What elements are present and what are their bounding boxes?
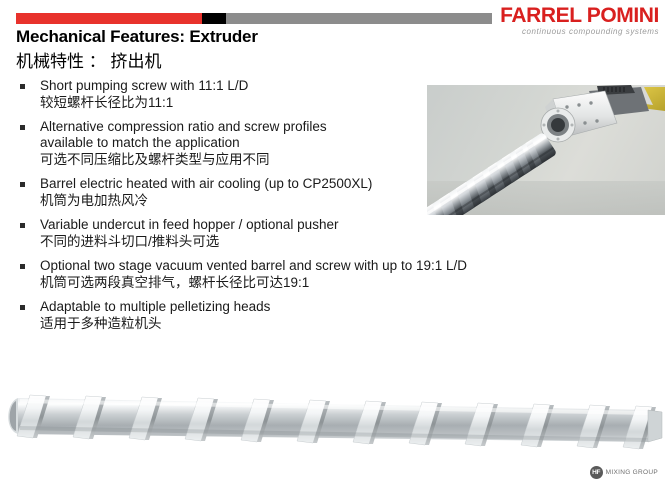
- bullet-text-chinese: 不同的进料斗切口/推料头可选: [40, 233, 618, 250]
- bullet-text-english: Adaptable to multiple pelletizing heads: [40, 299, 618, 315]
- list-item: Adaptable to multiple pelletizing heads …: [18, 299, 618, 332]
- accent-segment-gray: [226, 13, 492, 24]
- bullet-text-chinese: 机筒可选两段真空排气，螺杆长径比可达19:1: [40, 274, 618, 291]
- bullet-text-english: Alternative compression ratio and screw …: [40, 119, 370, 151]
- page-title-chinese: 机械特性 ： 挤出机: [16, 47, 161, 72]
- bullet-square-icon: [20, 84, 25, 89]
- hf-mixing-group-logo: HF MIXING GROUP: [590, 466, 658, 479]
- logo-wordmark: FARREL POMINI: [487, 5, 659, 26]
- bullet-square-icon: [20, 125, 25, 130]
- bullet-square-icon: [20, 223, 25, 228]
- extruder-screw-insertion-photo: [427, 85, 665, 215]
- extruder-screw-photo: [0, 368, 665, 474]
- accent-segment-black: [202, 13, 226, 24]
- bullet-text-english: Variable undercut in feed hopper / optio…: [40, 217, 618, 233]
- bullet-square-icon: [20, 305, 25, 310]
- extruder-screw-illustration: [427, 85, 665, 215]
- bullet-square-icon: [20, 264, 25, 269]
- hf-badge-icon: HF: [590, 466, 603, 479]
- accent-segment-red: [16, 13, 202, 24]
- farrel-pomini-logo: FARREL POMINI continuous compounding sys…: [487, 5, 659, 36]
- logo-tagline: continuous compounding systems: [487, 28, 659, 36]
- header-accent-bar: [16, 13, 492, 24]
- list-item: Variable undercut in feed hopper / optio…: [18, 217, 618, 250]
- bullet-text-chinese: 适用于多种造粒机头: [40, 315, 618, 332]
- page-title-english: Mechanical Features: Extruder: [16, 27, 258, 47]
- list-item: Optional two stage vacuum vented barrel …: [18, 258, 618, 291]
- bullet-square-icon: [20, 182, 25, 187]
- screw-profile-illustration: [0, 368, 665, 474]
- hf-logo-text: MIXING GROUP: [606, 469, 658, 476]
- bullet-text-english: Optional two stage vacuum vented barrel …: [40, 258, 618, 274]
